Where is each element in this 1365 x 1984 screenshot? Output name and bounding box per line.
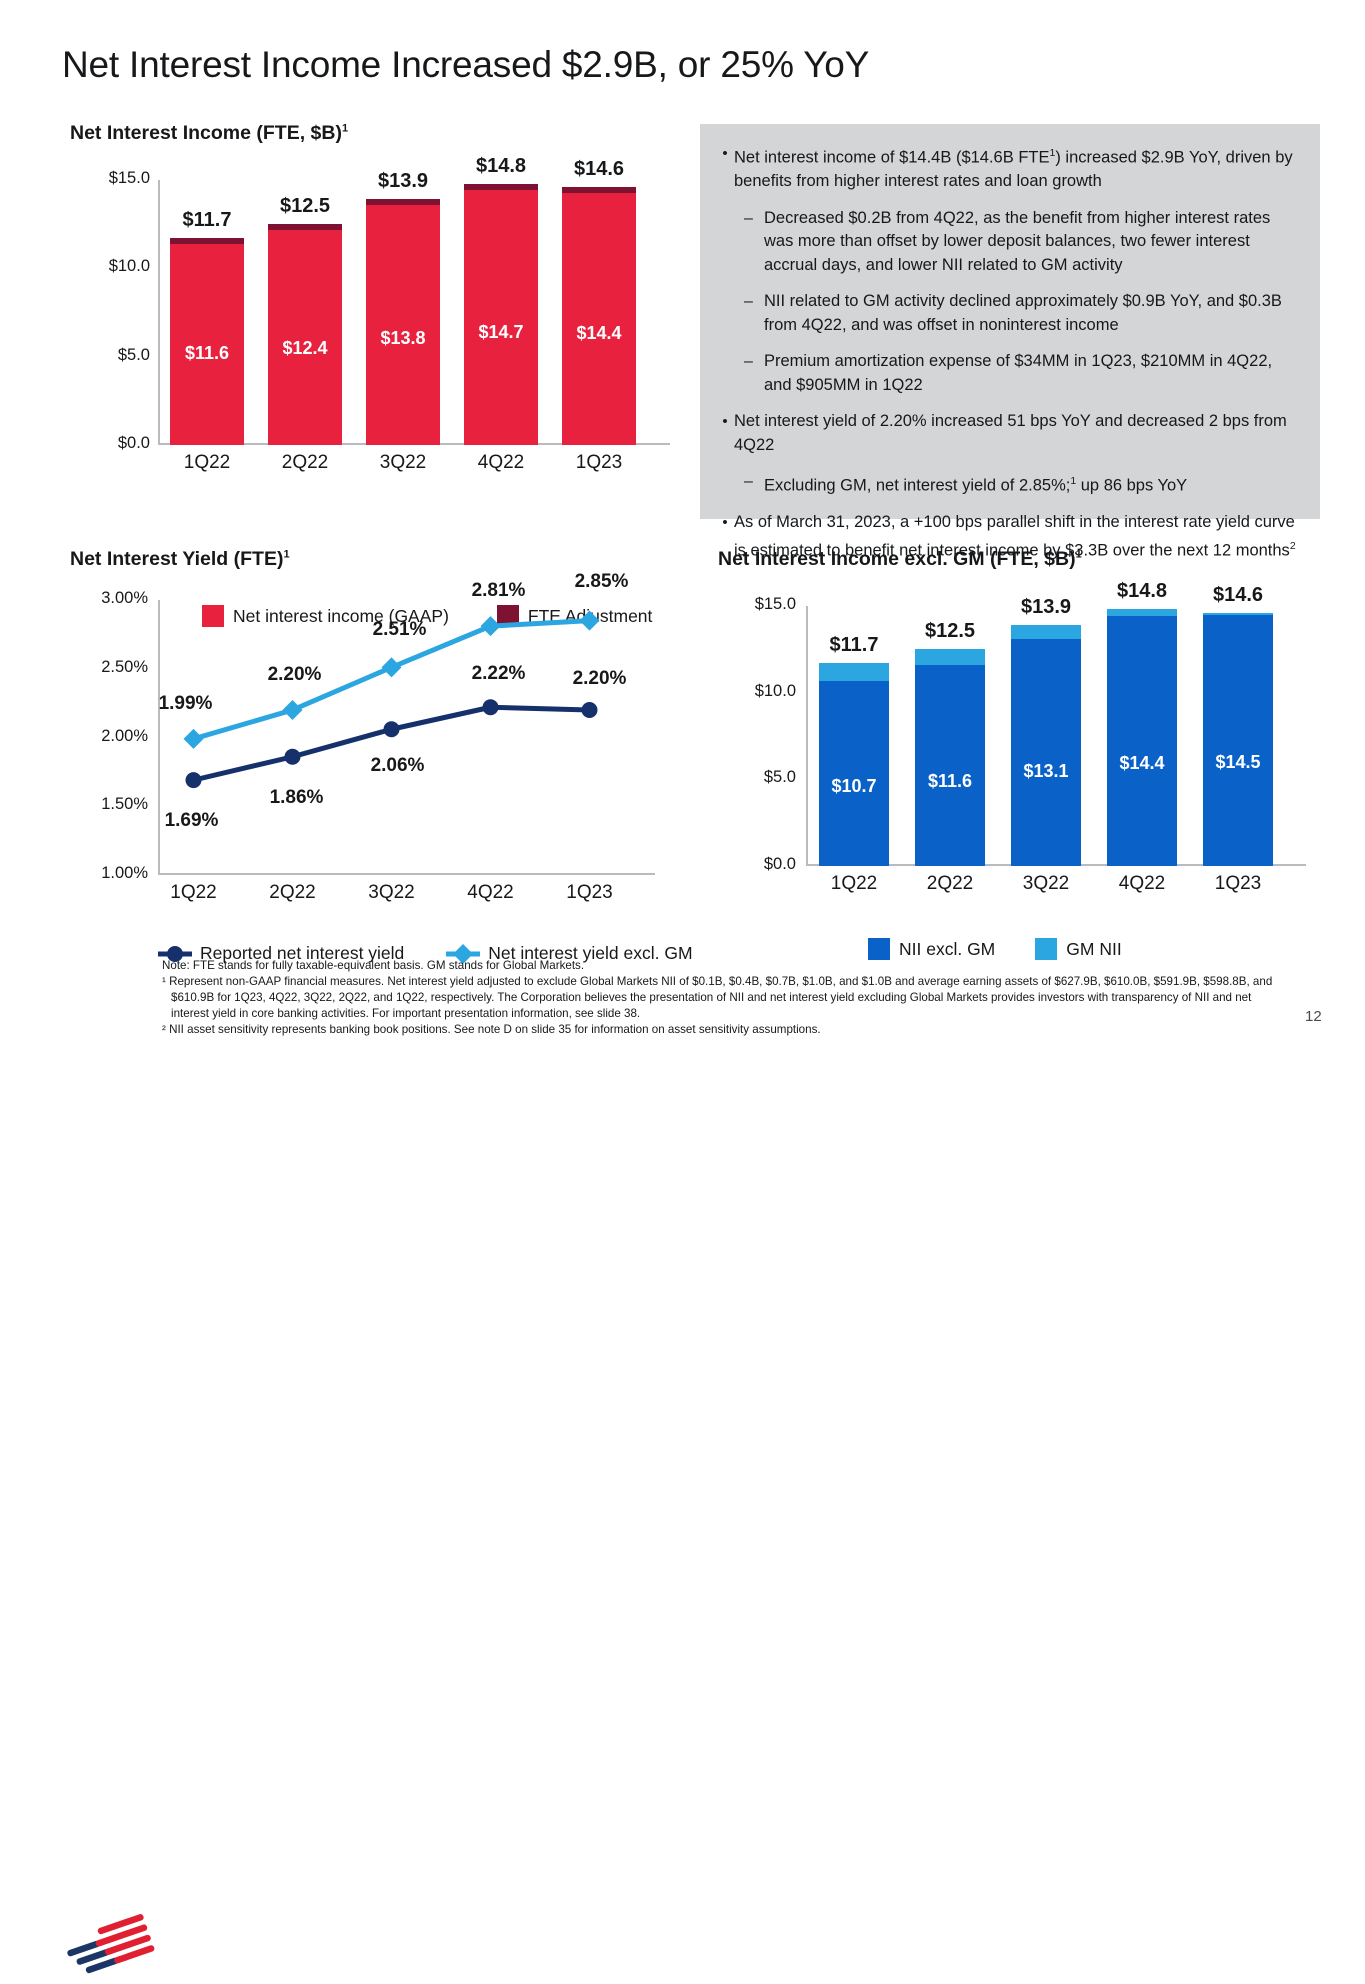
chart1-bar-value-label: $13.8 bbox=[366, 328, 440, 349]
chart1-bar-value-label: $14.7 bbox=[464, 322, 538, 343]
chart1-bar-group: $14.7$14.8 bbox=[464, 184, 538, 445]
chart1-bar-net-interest-income bbox=[366, 205, 440, 445]
commentary-bullet-text: NII related to GM activity declined appr… bbox=[764, 290, 1300, 337]
commentary-bullet: –Decreased $0.2B from 4Q22, as the benef… bbox=[744, 207, 1300, 278]
chart2-data-label: 1.69% bbox=[147, 810, 237, 832]
chart3-bar-total-label: $14.6 bbox=[1183, 584, 1293, 607]
chart3-bar-group: $10.7$11.7 bbox=[819, 663, 889, 866]
chart1-bar-value-label: $11.6 bbox=[170, 343, 244, 364]
commentary-bullet-list: •Net interest income of $14.4B ($14.6B F… bbox=[700, 124, 1320, 563]
chart3-x-tick-label: 1Q23 bbox=[1183, 873, 1293, 895]
chart3-bar-total-label: $11.7 bbox=[799, 634, 909, 657]
chart2-data-point bbox=[580, 611, 600, 631]
chart-net-interest-income: Net Interest Income (FTE, $B)1 $0.0$5.0$… bbox=[70, 122, 680, 517]
chart3-bar-nii-excl-gm bbox=[819, 681, 889, 866]
chart3-y-tick-label: $10.0 bbox=[718, 682, 796, 701]
commentary-bullet: –Premium amortization expense of $34MM i… bbox=[744, 350, 1300, 397]
chart3-title-text: Net Interest Income excl. GM (FTE, $B) bbox=[718, 548, 1076, 570]
chart2-data-point bbox=[384, 721, 400, 737]
chart1-bar-total-label: $13.9 bbox=[348, 170, 458, 193]
chart1-y-axis-labels: $0.0$5.0$10.0$15.0 bbox=[70, 180, 150, 445]
commentary-bullet-marker: • bbox=[716, 410, 734, 457]
chart1-title-text: Net Interest Income (FTE, $B) bbox=[70, 122, 342, 144]
chart2-data-point bbox=[481, 616, 501, 636]
chart3-y-tick-label: $15.0 bbox=[718, 595, 796, 614]
chart3-bar-nii-excl-gm bbox=[1011, 639, 1081, 866]
footnote-1-line-2: $610.9B for 1Q23, 4Q22, 3Q22, 2Q22, and … bbox=[162, 990, 1251, 1006]
chart3-bar-value-label: $10.7 bbox=[819, 776, 889, 797]
chart2-data-point bbox=[184, 729, 204, 749]
chart3-bar-total-label: $12.5 bbox=[895, 620, 1005, 643]
chart1-x-tick-label: 4Q22 bbox=[446, 452, 556, 474]
chart3-title: Net Interest Income excl. GM (FTE, $B)1 bbox=[718, 548, 1082, 571]
chart1-y-tick-label: $5.0 bbox=[118, 346, 150, 365]
commentary-bullet-text: Net interest yield of 2.20% increased 51… bbox=[734, 410, 1300, 457]
chart1-plot-area: $11.6$11.7$12.4$12.5$13.8$13.9$14.7$14.8… bbox=[158, 180, 648, 445]
chart1-bar-group: $14.4$14.6 bbox=[562, 187, 636, 445]
chart1-x-tick-label: 2Q22 bbox=[250, 452, 360, 474]
chart1-bar-fte-adjustment bbox=[170, 238, 244, 244]
footnote-1-line-3: interest yield in core banking activitie… bbox=[162, 1006, 640, 1022]
chart2-data-label: 1.86% bbox=[252, 787, 342, 809]
chart2-data-label: 2.20% bbox=[250, 664, 340, 686]
chart1-bar-group: $13.8$13.9 bbox=[366, 199, 440, 445]
chart1-bar-fte-adjustment bbox=[464, 184, 538, 190]
chart3-bar-group: $13.1$13.9 bbox=[1011, 625, 1081, 866]
chart1-bar-fte-adjustment bbox=[562, 187, 636, 193]
footnote-note: Note: FTE stands for fully taxable-equiv… bbox=[162, 958, 584, 974]
chart2-data-label: 2.06% bbox=[353, 755, 443, 777]
chart2-data-label: 2.51% bbox=[355, 619, 445, 641]
chart3-bar-value-label: $13.1 bbox=[1011, 761, 1081, 782]
chart1-x-tick-label: 1Q23 bbox=[544, 452, 654, 474]
commentary-bullet-marker: – bbox=[744, 207, 764, 278]
chart1-bar-value-label: $14.4 bbox=[562, 323, 636, 344]
bank-of-america-flag-logo bbox=[64, 1912, 160, 1984]
chart1-bar-net-interest-income bbox=[562, 193, 636, 445]
chart3-x-tick-label: 1Q22 bbox=[799, 873, 909, 895]
chart3-x-tick-label: 3Q22 bbox=[991, 873, 1101, 895]
chart1-bar-total-label: $12.5 bbox=[250, 195, 360, 218]
chart3-x-tick-label: 2Q22 bbox=[895, 873, 1005, 895]
chart2-data-label: 2.20% bbox=[555, 668, 645, 690]
chart3-bar-nii-excl-gm bbox=[915, 665, 985, 866]
chart1-bar-group: $12.4$12.5 bbox=[268, 224, 342, 445]
chart2-data-label: 2.85% bbox=[557, 571, 647, 593]
chart3-y-tick-label: $0.0 bbox=[718, 855, 796, 874]
chart3-bar-value-label: $14.5 bbox=[1203, 752, 1273, 773]
chart3-x-tick-label: 4Q22 bbox=[1087, 873, 1197, 895]
page-number: 12 bbox=[1305, 1008, 1322, 1025]
chart3-bar-gm-nii bbox=[1107, 609, 1177, 616]
chart1-bar-total-label: $14.8 bbox=[446, 155, 556, 178]
chart2-data-label: 2.81% bbox=[454, 580, 544, 602]
commentary-bullet-text: Premium amortization expense of $34MM in… bbox=[764, 350, 1300, 397]
chart2-series-svg bbox=[70, 548, 690, 938]
chart2-data-point bbox=[283, 700, 303, 720]
commentary-bullet: –NII related to GM activity declined app… bbox=[744, 290, 1300, 337]
chart3-bar-total-label: $13.9 bbox=[991, 596, 1101, 619]
commentary-panel: •Net interest income of $14.4B ($14.6B F… bbox=[700, 124, 1320, 519]
chart1-y-tick-label: $15.0 bbox=[109, 169, 150, 188]
chart2-data-point bbox=[582, 702, 598, 718]
footnote-2: ² NII asset sensitivity represents banki… bbox=[162, 1022, 821, 1038]
chart-net-interest-income-excl-gm: Net Interest Income excl. GM (FTE, $B)1 … bbox=[718, 548, 1338, 938]
chart1-y-tick-label: $0.0 bbox=[118, 434, 150, 453]
chart3-title-footnote-marker: 1 bbox=[1076, 549, 1082, 561]
commentary-bullet-marker: – bbox=[744, 290, 764, 337]
commentary-bullet: •Net interest yield of 2.20% increased 5… bbox=[716, 410, 1300, 457]
slide-root: Net Interest Income Increased $2.9B, or … bbox=[0, 0, 1365, 1055]
chart3-bar-gm-nii bbox=[819, 663, 889, 680]
commentary-bullet: –Excluding GM, net interest yield of 2.8… bbox=[744, 470, 1300, 498]
chart3-bar-total-label: $14.8 bbox=[1087, 580, 1197, 603]
chart3-bar-group: $14.4$14.8 bbox=[1107, 609, 1177, 866]
commentary-bullet-marker: – bbox=[744, 350, 764, 397]
commentary-bullet-text: Decreased $0.2B from 4Q22, as the benefi… bbox=[764, 207, 1300, 278]
chart1-bar-value-label: $12.4 bbox=[268, 338, 342, 359]
chart2-data-point bbox=[382, 657, 402, 677]
chart1-bar-fte-adjustment bbox=[268, 224, 342, 230]
chart2-data-label: 2.22% bbox=[454, 663, 544, 685]
chart3-bar-value-label: $11.6 bbox=[915, 771, 985, 792]
chart3-bar-gm-nii bbox=[1203, 613, 1273, 615]
page-title: Net Interest Income Increased $2.9B, or … bbox=[62, 44, 869, 86]
chart3-bar-gm-nii bbox=[1011, 625, 1081, 639]
chart1-y-tick-label: $10.0 bbox=[109, 257, 150, 276]
chart1-x-tick-label: 1Q22 bbox=[152, 452, 262, 474]
chart1-bar-net-interest-income bbox=[464, 190, 538, 445]
chart3-bar-group: $11.6$12.5 bbox=[915, 649, 985, 866]
chart3-plot-area: $10.7$11.7$11.6$12.5$13.1$13.9$14.4$14.8… bbox=[806, 606, 1286, 866]
commentary-bullet-marker: • bbox=[716, 142, 734, 194]
chart1-bar-total-label: $11.7 bbox=[152, 209, 262, 232]
chart3-bar-value-label: $14.4 bbox=[1107, 753, 1177, 774]
chart1-title-footnote-marker: 1 bbox=[342, 123, 348, 135]
chart3-bar-nii-excl-gm bbox=[1203, 615, 1273, 866]
commentary-bullet-marker: – bbox=[744, 470, 764, 498]
chart1-bar-fte-adjustment bbox=[366, 199, 440, 205]
chart2-data-point bbox=[186, 772, 202, 788]
chart2-data-point bbox=[285, 749, 301, 765]
chart1-bar-total-label: $14.6 bbox=[544, 158, 654, 181]
commentary-bullet-text: Excluding GM, net interest yield of 2.85… bbox=[764, 470, 1187, 498]
footer: Note: FTE stands for fully taxable-equiv… bbox=[0, 950, 1365, 1055]
chart3-y-tick-label: $5.0 bbox=[718, 768, 796, 787]
chart3-bar-group: $14.5$14.6 bbox=[1203, 613, 1273, 866]
chart2-data-point bbox=[483, 699, 499, 715]
chart-net-interest-yield: Net Interest Yield (FTE)1 1.00%1.50%2.00… bbox=[70, 548, 690, 938]
chart1-title: Net Interest Income (FTE, $B)1 bbox=[70, 122, 348, 145]
commentary-bullet-text: Net interest income of $14.4B ($14.6B FT… bbox=[734, 142, 1300, 194]
chart1-bar-group: $11.6$11.7 bbox=[170, 238, 244, 445]
footnote-1-line-1: ¹ Represent non-GAAP financial measures.… bbox=[162, 974, 1272, 990]
chart3-bar-gm-nii bbox=[915, 649, 985, 665]
commentary-bullet: •Net interest income of $14.4B ($14.6B F… bbox=[716, 142, 1300, 194]
chart1-x-tick-label: 3Q22 bbox=[348, 452, 458, 474]
chart2-data-label: 1.99% bbox=[141, 693, 231, 715]
chart3-bar-nii-excl-gm bbox=[1107, 616, 1177, 866]
